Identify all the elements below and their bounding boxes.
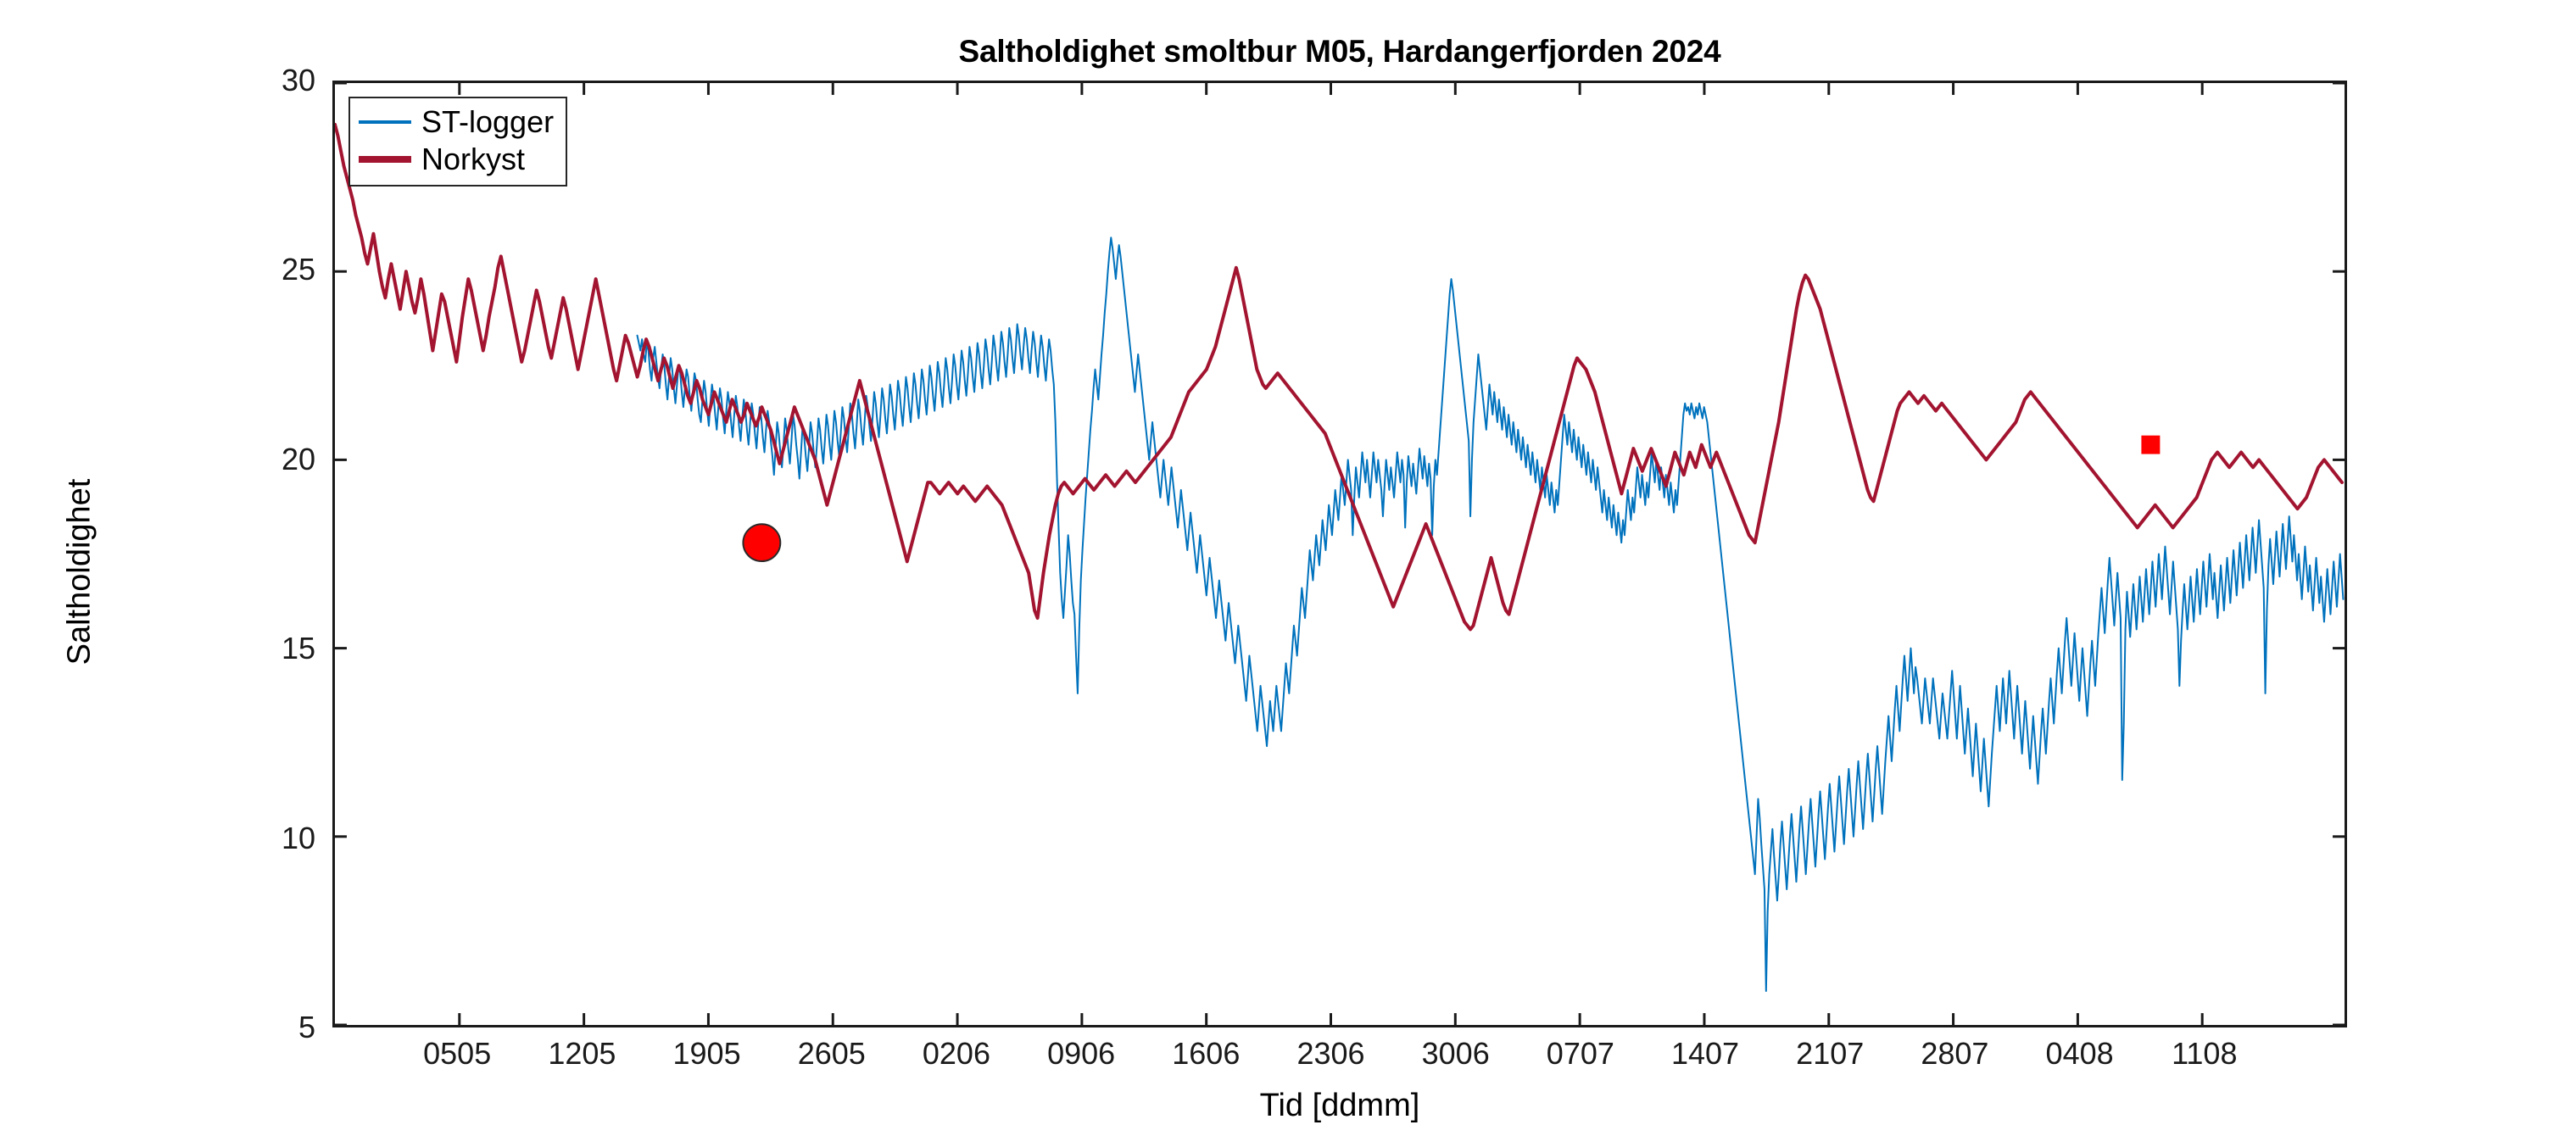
y-axis-tick-labels: 51015202530 <box>231 0 315 1136</box>
legend-entry-norkyst[interactable]: Norkyst <box>359 141 554 178</box>
x-tick-label: 2807 <box>1887 1036 2022 1072</box>
x-tick-label: 0906 <box>1013 1036 1149 1072</box>
y-tick-label: 10 <box>239 821 315 856</box>
x-tick-label: 1205 <box>514 1036 650 1072</box>
retrieval-marker <box>2141 436 2160 454</box>
x-tick-label: 0408 <box>2012 1036 2148 1072</box>
legend-entry-st-logger[interactable]: ST-logger <box>359 103 554 141</box>
x-tick-label: 2306 <box>1263 1036 1398 1072</box>
y-tick-label: 25 <box>239 252 315 287</box>
plot-svg <box>335 83 2345 1025</box>
x-tick-label: 0707 <box>1513 1036 1648 1072</box>
deployment-marker <box>743 524 780 561</box>
legend-swatch-st-logger <box>359 120 411 124</box>
figure-container: Saltholdighet smoltbur M05, Hardangerfjo… <box>0 0 2576 1136</box>
legend-label-norkyst: Norkyst <box>421 142 525 176</box>
plot-area: ST-logger Norkyst <box>332 81 2347 1027</box>
y-tick-label: 20 <box>239 442 315 477</box>
legend-label-st-logger: ST-logger <box>421 105 554 139</box>
x-tick-label: 0505 <box>389 1036 525 1072</box>
x-tick-label: 1108 <box>2137 1036 2272 1072</box>
series-line-norkyst <box>335 125 2342 629</box>
x-tick-label: 1905 <box>639 1036 775 1072</box>
chart-title: Saltholdighet smoltbur M05, Hardangerfjo… <box>332 34 2347 70</box>
legend-swatch-norkyst <box>359 156 411 163</box>
y-tick-label: 15 <box>239 631 315 666</box>
y-tick-label: 30 <box>239 63 315 98</box>
x-tick-label: 1606 <box>1138 1036 1274 1072</box>
x-tick-label: 0206 <box>889 1036 1024 1072</box>
y-axis-label: Saltholdighet <box>62 394 98 750</box>
x-tick-label: 3006 <box>1388 1036 1524 1072</box>
x-tick-label: 2107 <box>1762 1036 1898 1072</box>
x-tick-label: 2605 <box>764 1036 900 1072</box>
legend: ST-logger Norkyst <box>348 97 567 187</box>
x-axis-label: Tid [ddmm] <box>332 1088 2347 1124</box>
x-axis-tick-labels: 0505120519052605020609061606230630060707… <box>0 1036 2576 1078</box>
series-line-st-logger <box>638 237 2344 991</box>
x-tick-label: 1407 <box>1637 1036 1773 1072</box>
